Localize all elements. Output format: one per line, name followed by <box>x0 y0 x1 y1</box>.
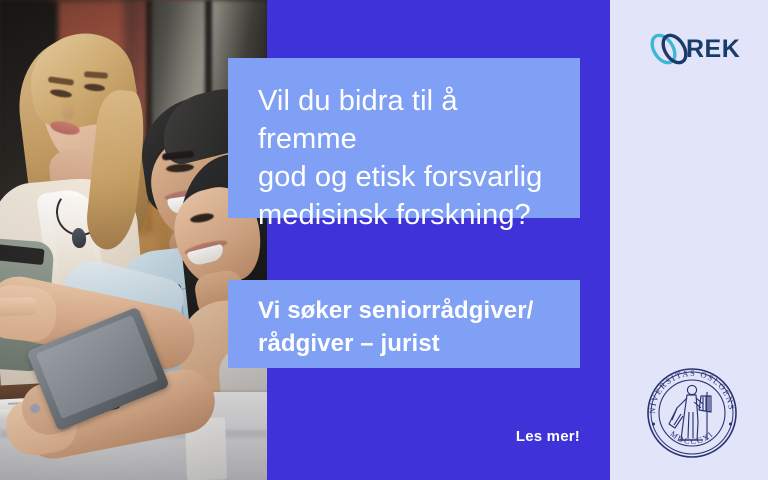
hero-photo <box>0 0 267 480</box>
job-title-box: Vi søker seniorrådgiver/ rådgiver – juri… <box>228 280 580 368</box>
uio-seal: UNIVERSITAS OSLOENSIS MDCCCXI <box>641 362 743 464</box>
photo-vignette <box>0 0 267 480</box>
uio-seal-icon: UNIVERSITAS OSLOENSIS MDCCCXI <box>641 362 743 464</box>
job-title-line-2: rådgiver – jurist <box>258 327 554 360</box>
rek-wordmark: REK <box>686 35 740 64</box>
headline-line-1: Vil du bidra til å fremme <box>258 82 554 158</box>
svg-text:MDCCCXI: MDCCCXI <box>668 429 715 446</box>
headline-box: Vil du bidra til å fremme god og etisk f… <box>228 58 580 218</box>
headline-line-3: medisinsk forskning? <box>258 196 554 234</box>
headline-line-2: god og etisk forsvarlig <box>258 158 554 196</box>
job-title-line-1: Vi søker seniorrådgiver/ <box>258 294 554 327</box>
recruitment-banner: Vil du bidra til å fremme god og etisk f… <box>0 0 768 480</box>
rek-logo[interactable]: REK <box>648 26 744 72</box>
read-more-link[interactable]: Les mer! <box>440 428 580 445</box>
